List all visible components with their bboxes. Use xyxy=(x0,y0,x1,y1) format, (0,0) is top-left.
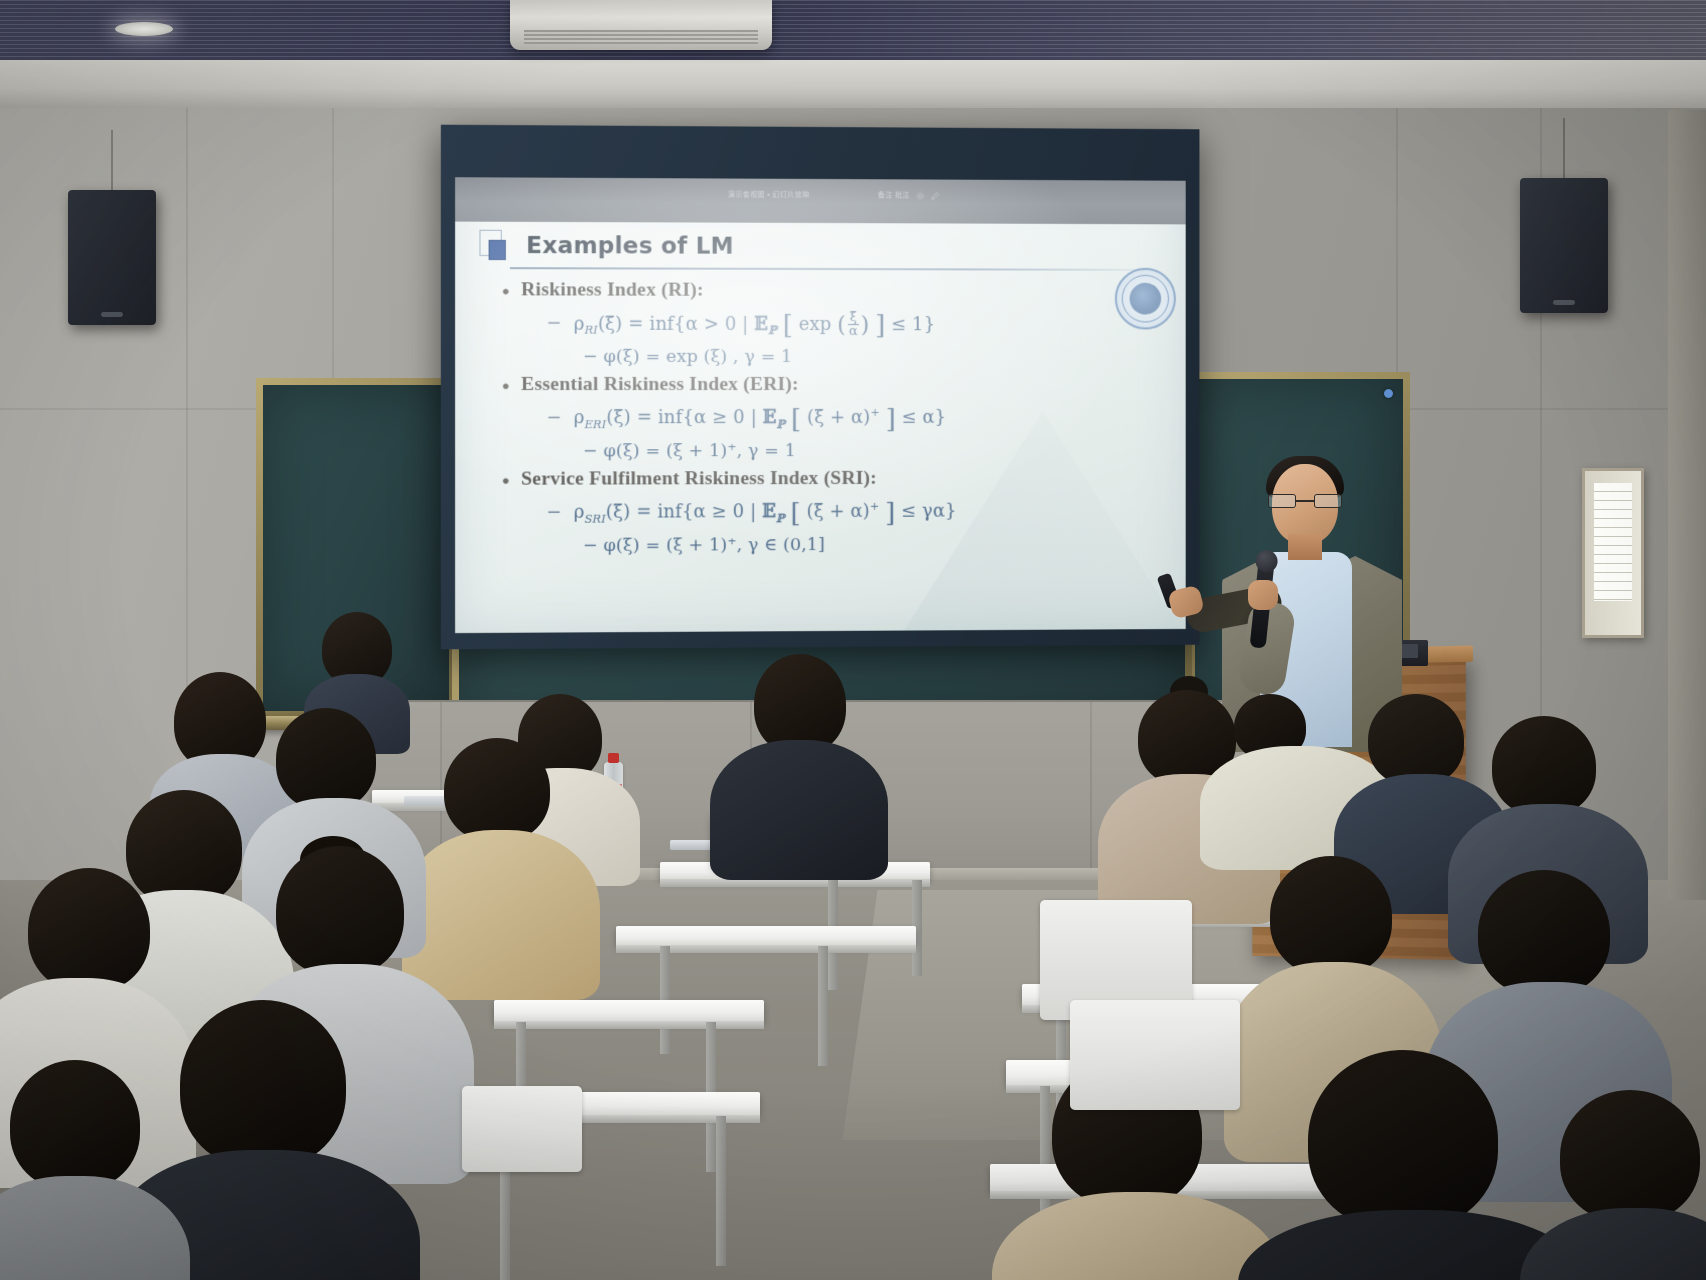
slide-document-icon xyxy=(479,230,511,262)
inf-clause: = inf{α ≥ 0 | xyxy=(637,407,757,428)
list-item xyxy=(732,654,862,834)
slide-surface: 演示者视图 • 幻灯片放映 备注 批注 Examples of xyxy=(455,177,1186,633)
expectation-subscript: ℙ xyxy=(768,323,777,337)
toolbar-right-group[interactable]: 备注 批注 xyxy=(878,185,940,205)
formula-ri-main: − ρRI(ξ̃) = inf{α > 0 | 𝔼ℙ [ exp (ξ̃α) ]… xyxy=(546,310,1168,341)
wall-notice-frame xyxy=(1582,468,1644,638)
expectation-subscript: ℙ xyxy=(776,511,785,525)
powerpoint-toolbar[interactable]: 演示者视图 • 幻灯片放映 备注 批注 xyxy=(455,177,1186,224)
fraction-denominator: α xyxy=(847,325,860,338)
plus-superscript: + xyxy=(870,406,879,419)
bracket-open: [ xyxy=(783,311,793,341)
bracket-open: [ xyxy=(791,405,801,435)
expectation-symbol: 𝔼 xyxy=(762,501,776,522)
formula-sri-sub: − φ(ξ) = (ξ + 1)⁺, γ ∈ (0,1] xyxy=(583,534,1168,556)
bullet-list: ● Riskiness Index (RI): − ρRI(ξ̃) = inf{… xyxy=(475,279,1168,557)
title-divider xyxy=(510,267,1162,270)
bullet-heading: Service Fulfilment Riskiness Index (SRI)… xyxy=(521,468,877,491)
bullet-heading: Essential Riskiness Index (ERI): xyxy=(521,374,799,396)
rho-symbol: ρ xyxy=(574,407,585,428)
rho-subscript: SRI xyxy=(585,512,606,526)
fraction: ξ̃α xyxy=(847,311,860,338)
list-item: ● Service Fulfilment Riskiness Index (SR… xyxy=(502,467,1168,490)
inf-clause: = inf{α > 0 | xyxy=(628,313,748,334)
left-speaker-icon xyxy=(68,190,156,325)
exp-operator: exp xyxy=(799,313,832,334)
ceiling-panel xyxy=(0,60,1706,112)
rho-arg: (ξ̃) xyxy=(606,407,630,428)
expectation-symbol: 𝔼 xyxy=(763,407,777,428)
rho-symbol: ρ xyxy=(574,313,585,334)
inf-clause: = inf{α ≥ 0 | xyxy=(636,501,756,522)
ac-vent xyxy=(510,0,772,50)
list-item: ● Riskiness Index (RI): xyxy=(502,279,1168,302)
glasses-icon xyxy=(1268,494,1342,508)
bracket-close: ] xyxy=(875,311,885,341)
list-item xyxy=(0,1060,170,1280)
fraction-numerator: ξ̃ xyxy=(848,311,859,325)
formula-tail: ≤ α} xyxy=(902,407,947,428)
slide-content: Examples of LM ● Riskiness Index (RI): −… xyxy=(455,222,1186,633)
bracket-open: [ xyxy=(790,499,800,529)
rho-arg: (ξ̃) xyxy=(606,502,630,523)
formula-tail: ≤ γα} xyxy=(901,501,956,522)
formula-eri-sub: − φ(ξ) = (ξ + 1)⁺, γ = 1 xyxy=(583,441,1168,462)
plus-superscript: + xyxy=(870,500,879,513)
rho-subscript: ERI xyxy=(585,417,607,431)
chair xyxy=(1070,1000,1240,1110)
expectation-symbol: 𝔼 xyxy=(754,313,768,334)
settings-gear-icon[interactable] xyxy=(916,191,925,200)
right-speaker-icon xyxy=(1520,178,1608,313)
pen-icon[interactable] xyxy=(931,191,940,200)
bracket-close: ] xyxy=(886,405,896,435)
inner-expression: (ξ̃ + α) xyxy=(807,407,870,428)
bullet-dot-icon: ● xyxy=(502,474,510,487)
bullet-dot-icon: ● xyxy=(502,284,510,297)
desk xyxy=(494,1000,764,1022)
toolbar-right-label: 备注 批注 xyxy=(878,190,910,200)
formula-tail: ≤ 1} xyxy=(891,313,935,334)
lecture-hall-photo: 演示者视图 • 幻灯片放映 备注 批注 Examples of xyxy=(0,0,1706,1280)
list-item xyxy=(1258,1050,1558,1280)
toolbar-left-label: 演示者视图 • 幻灯片放映 xyxy=(728,185,810,205)
ceiling-beam xyxy=(0,0,1706,62)
slide-header: Examples of LM xyxy=(475,230,1168,264)
formula-sri-main: − ρSRI(ξ̃) = inf{α ≥ 0 | 𝔼ℙ [ (ξ̃ + α)+ … xyxy=(546,498,1168,530)
page-title: Examples of LM xyxy=(526,233,734,260)
rho-symbol: ρ xyxy=(574,502,585,523)
bullet-dot-icon: ● xyxy=(502,379,510,392)
desk xyxy=(616,926,916,946)
right-pillar xyxy=(1668,110,1706,900)
rho-arg: (ξ̃) xyxy=(598,313,622,334)
list-item xyxy=(1540,1090,1706,1280)
chair xyxy=(462,1086,582,1172)
projection-screen: 演示者视图 • 幻灯片放映 备注 批注 Examples of xyxy=(441,125,1200,650)
expectation-subscript: ℙ xyxy=(777,417,786,431)
formula-eri-main: − ρERI(ξ̃) = inf{α ≥ 0 | 𝔼ℙ [ (ξ̃ + α)+ … xyxy=(546,405,1168,435)
inner-expression: (ξ̃ + α) xyxy=(807,501,870,522)
rho-subscript: RI xyxy=(585,323,598,337)
presenter-neck xyxy=(1288,534,1322,560)
bullet-heading: Riskiness Index (RI): xyxy=(521,279,703,302)
bracket-close: ] xyxy=(885,499,895,529)
presenter-left-hand xyxy=(1248,580,1278,610)
list-item xyxy=(1206,694,1356,844)
formula-ri-sub: − φ(ξ) = exp (ξ) , γ = 1 xyxy=(583,347,1168,367)
ceiling-light xyxy=(115,22,173,36)
list-item: ● Essential Riskiness Index (ERI): xyxy=(502,374,1168,396)
